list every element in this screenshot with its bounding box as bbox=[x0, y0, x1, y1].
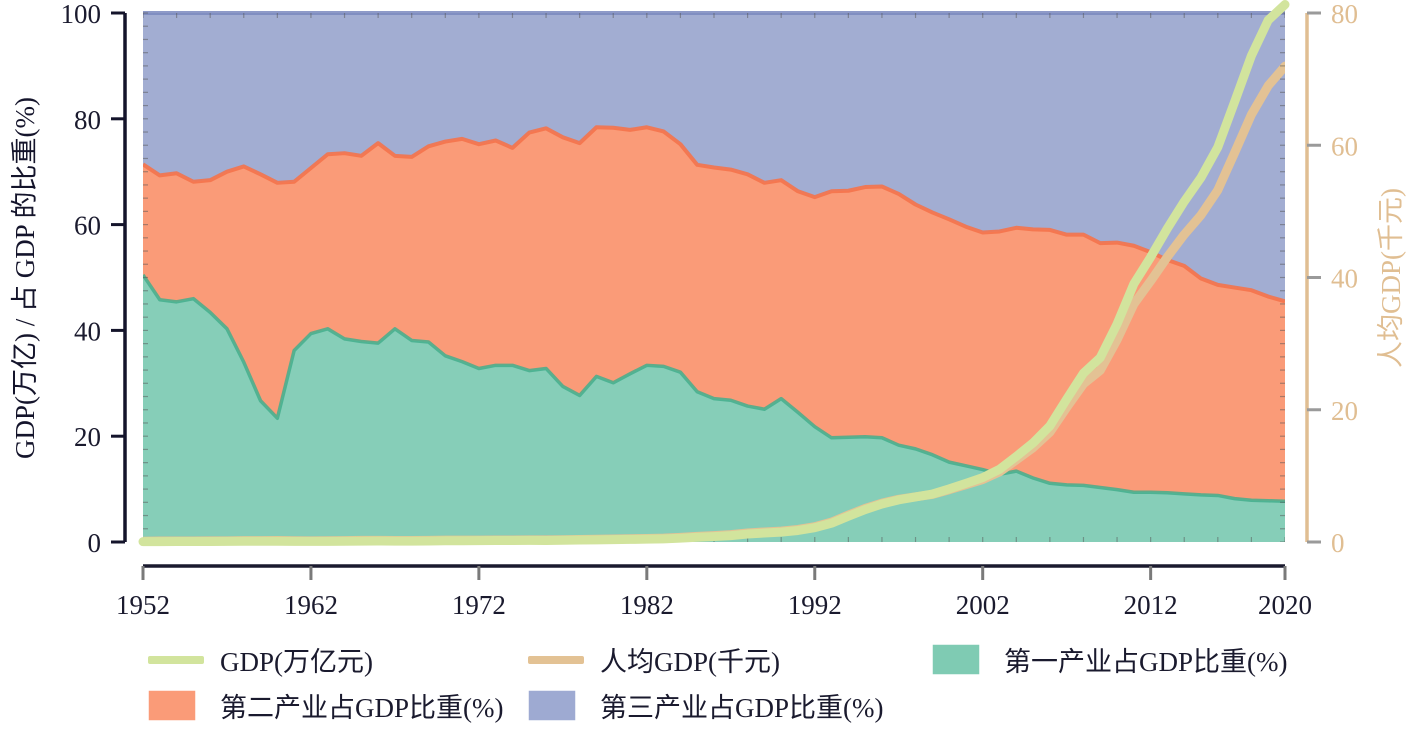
legend-item-label: GDP(万亿元) bbox=[220, 647, 373, 677]
bottom-axis-tick-label: 2002 bbox=[956, 590, 1010, 620]
legend-line-marker bbox=[148, 656, 204, 664]
bottom-axis-tick-label: 1952 bbox=[116, 590, 170, 620]
right-axis-title: 人均GDP(千元) bbox=[1376, 188, 1406, 368]
legend-patch-marker bbox=[932, 644, 980, 675]
legend-patch-marker bbox=[148, 690, 196, 721]
gdp-structure-area-chart: 020406080100 020406080 19521962197219821… bbox=[0, 0, 1421, 734]
legend-patch-marker bbox=[528, 690, 576, 721]
plot-area bbox=[143, 5, 1285, 542]
legend-item-label: 第一产业占GDP比重(%) bbox=[1004, 647, 1288, 677]
bottom-axis-tick-label: 2020 bbox=[1258, 590, 1312, 620]
bottom-axis-tick-label: 2012 bbox=[1124, 590, 1178, 620]
bottom-axis-tick-label: 1962 bbox=[284, 590, 338, 620]
left-axis-tick-label: 60 bbox=[74, 211, 101, 241]
legend-item-label: 人均GDP(千元) bbox=[600, 647, 780, 677]
chart-container: 020406080100 020406080 19521962197219821… bbox=[0, 0, 1421, 734]
right-axis-tick-label: 0 bbox=[1331, 528, 1345, 558]
legend-line-marker bbox=[528, 656, 584, 664]
bottom-axis-tick-label: 1972 bbox=[452, 590, 506, 620]
legend-item-label: 第二产业占GDP比重(%) bbox=[220, 693, 504, 723]
left-axis-title: GDP(万亿) / 占 GDP 的比重(%) bbox=[10, 97, 40, 459]
left-axis-tick-label: 0 bbox=[88, 528, 102, 558]
left-axis-tick-label: 20 bbox=[74, 422, 101, 452]
left-axis-tick-label: 100 bbox=[61, 0, 102, 29]
left-axis-tick-label: 80 bbox=[74, 105, 101, 135]
right-axis-tick-label: 20 bbox=[1331, 396, 1358, 426]
right-axis-tick-label: 40 bbox=[1331, 264, 1358, 294]
legend-item-label: 第三产业占GDP比重(%) bbox=[600, 693, 884, 723]
bottom-axis-tick-label: 1982 bbox=[620, 590, 674, 620]
left-axis-tick-label: 40 bbox=[74, 316, 101, 346]
right-axis-tick-label: 60 bbox=[1331, 131, 1358, 161]
bottom-axis-tick-label: 1992 bbox=[788, 590, 842, 620]
right-axis-tick-label: 80 bbox=[1331, 0, 1358, 29]
